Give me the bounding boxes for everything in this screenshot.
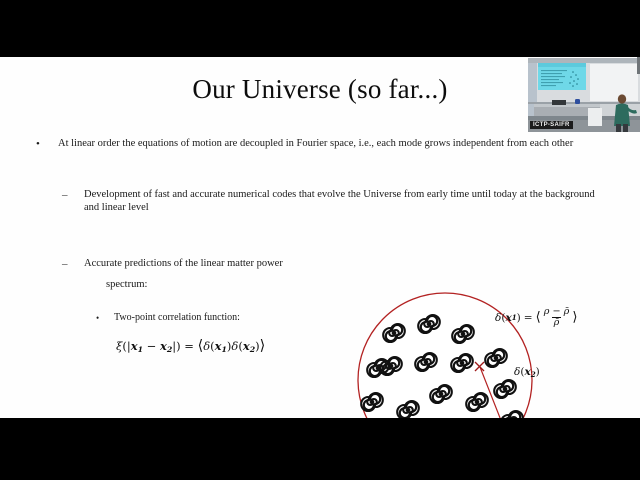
equation-minus: − bbox=[143, 339, 160, 353]
annotation-angle-open: ⟨ bbox=[536, 311, 541, 324]
equation-x: x bbox=[243, 339, 250, 353]
bullet-level1: • At linear order the equations of motio… bbox=[36, 137, 616, 151]
bullet-marker-dash: – bbox=[62, 257, 84, 271]
equation-sub-2: 2 bbox=[250, 345, 255, 354]
annotation-delta: δ bbox=[514, 366, 520, 378]
bullet-level2-predictions-text: Accurate predictions of the linear matte… bbox=[84, 257, 362, 270]
annotation-equals: = bbox=[524, 312, 533, 324]
delta-x1-annotation: δ(x1) = ⟨ ρ − ρ̄ ρ̄ ⟩ bbox=[495, 307, 577, 328]
bullet-marker-dot: • bbox=[36, 137, 58, 151]
bullet-level2-codes-text: Development of fast and accurate numeric… bbox=[84, 188, 610, 215]
video-frame: Our Universe (so far...) • At linear ord… bbox=[0, 0, 640, 480]
bullet-level2-spectrum-text: spectrum: bbox=[106, 279, 147, 290]
equation-x: x bbox=[160, 339, 167, 353]
annotation-angle-close: ⟩ bbox=[572, 311, 577, 324]
equation-delta: δ bbox=[203, 339, 210, 353]
density-contrast-fraction: ρ − ρ̄ ρ̄ bbox=[542, 307, 572, 328]
bullet-level3-correlation: • Two-point correlation function: bbox=[96, 312, 356, 325]
equation-open: (| bbox=[122, 339, 130, 353]
bullet-marker-dot: • bbox=[96, 312, 114, 325]
bullet-level2-codes: – Development of fast and accurate numer… bbox=[62, 188, 610, 215]
delta-x2-annotation: δ(x2) bbox=[514, 366, 540, 379]
correlation-function-equation: ξ(|x1 − x2|) = ⟨δ(x1)δ(x2)⟩ bbox=[116, 339, 265, 354]
bullet-marker-dash: – bbox=[62, 188, 84, 202]
fraction-denominator: ρ̄ bbox=[552, 317, 562, 328]
bullet-level3-correlation-text: Two-point correlation function: bbox=[114, 312, 356, 325]
fraction-numerator: ρ − ρ̄ bbox=[542, 307, 572, 317]
bullet-level2-predictions: – Accurate predictions of the linear mat… bbox=[62, 257, 362, 271]
equation-close-equals: |) = bbox=[172, 339, 197, 353]
letterbox-bar-top bbox=[0, 0, 640, 57]
annotation-delta: δ bbox=[495, 312, 501, 324]
webcam-watermark: ICTP-SAIFR bbox=[530, 121, 573, 129]
equation-angle-close: ⟩ bbox=[260, 338, 266, 354]
equation-delta: δ bbox=[231, 339, 238, 353]
annotation-sub-2: 2 bbox=[531, 370, 536, 379]
webcam-overlay[interactable]: ICTP-SAIFR bbox=[528, 58, 640, 132]
annotation-sub-1: 1 bbox=[512, 313, 517, 322]
bullet-level1-text: At linear order the equations of motion … bbox=[58, 137, 616, 150]
equation-sub-1: 1 bbox=[221, 345, 226, 354]
letterbox-bar-bottom bbox=[0, 418, 640, 480]
equation-x: x bbox=[131, 339, 138, 353]
